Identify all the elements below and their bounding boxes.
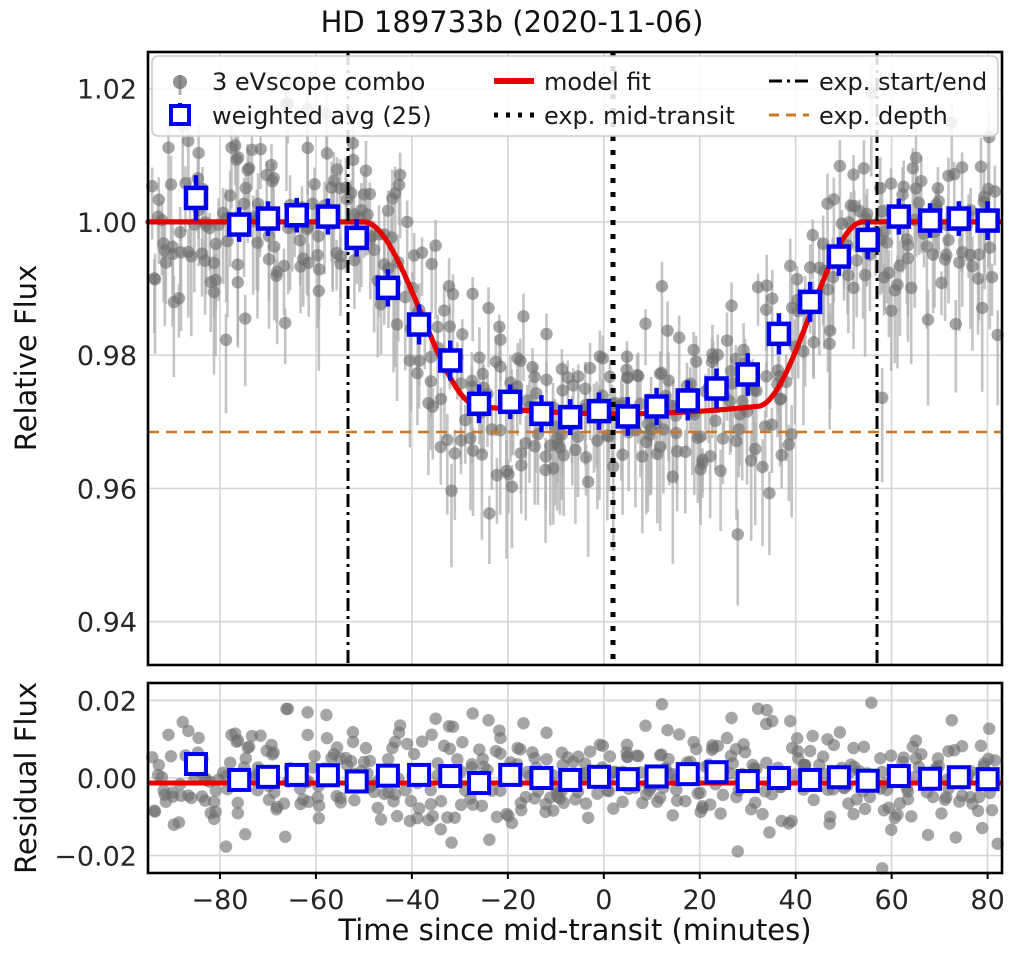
main-y-tick: 1.02 bbox=[77, 75, 137, 106]
x-tick: 60 bbox=[874, 885, 908, 916]
legend-label: weighted avg (25) bbox=[212, 102, 432, 130]
main-plot-background bbox=[148, 52, 1002, 665]
x-tick: −20 bbox=[479, 885, 536, 916]
x-tick: 20 bbox=[683, 885, 717, 916]
legend-label: exp. mid-transit bbox=[544, 102, 735, 130]
x-tick: 80 bbox=[970, 885, 1004, 916]
x-tick: 0 bbox=[595, 885, 612, 916]
legend-label: model fit bbox=[544, 68, 651, 96]
transit-lightcurve-figure: HD 189733b (2020-11-06) 0.940.960.981.00… bbox=[0, 0, 1024, 967]
page-title: HD 189733b (2020-11-06) bbox=[321, 5, 704, 39]
residual-y-tick: 0.02 bbox=[77, 686, 137, 717]
main-y-tick: 0.96 bbox=[77, 474, 137, 505]
legend-label: 3 eVscope combo bbox=[212, 68, 425, 96]
x-axis-label: Time since mid-transit (minutes) bbox=[337, 913, 811, 947]
x-tick: −60 bbox=[287, 885, 344, 916]
x-tick: −40 bbox=[383, 885, 440, 916]
legend-label: exp. depth bbox=[819, 102, 948, 130]
residual-y-tick: −0.02 bbox=[54, 842, 137, 873]
legend: 3 eVscope combomodel fitexp. start/endwe… bbox=[152, 56, 998, 136]
main-y-axis-label: Relative Flux bbox=[9, 265, 43, 451]
legend-label: exp. start/end bbox=[819, 68, 987, 96]
figure-canvas: HD 189733b (2020-11-06) 0.940.960.981.00… bbox=[0, 0, 1024, 967]
main-y-tick: 0.98 bbox=[77, 341, 137, 372]
main-panel: 0.940.960.981.001.02 Relative Flux bbox=[9, 52, 1004, 665]
main-y-tick: 0.94 bbox=[77, 608, 137, 639]
x-tick: −80 bbox=[191, 885, 248, 916]
x-tick: 40 bbox=[779, 885, 813, 916]
residual-y-tick: 0.00 bbox=[77, 764, 137, 795]
main-y-tick: 1.00 bbox=[77, 208, 137, 239]
residual-y-axis-label: Residual Flux bbox=[9, 682, 43, 874]
